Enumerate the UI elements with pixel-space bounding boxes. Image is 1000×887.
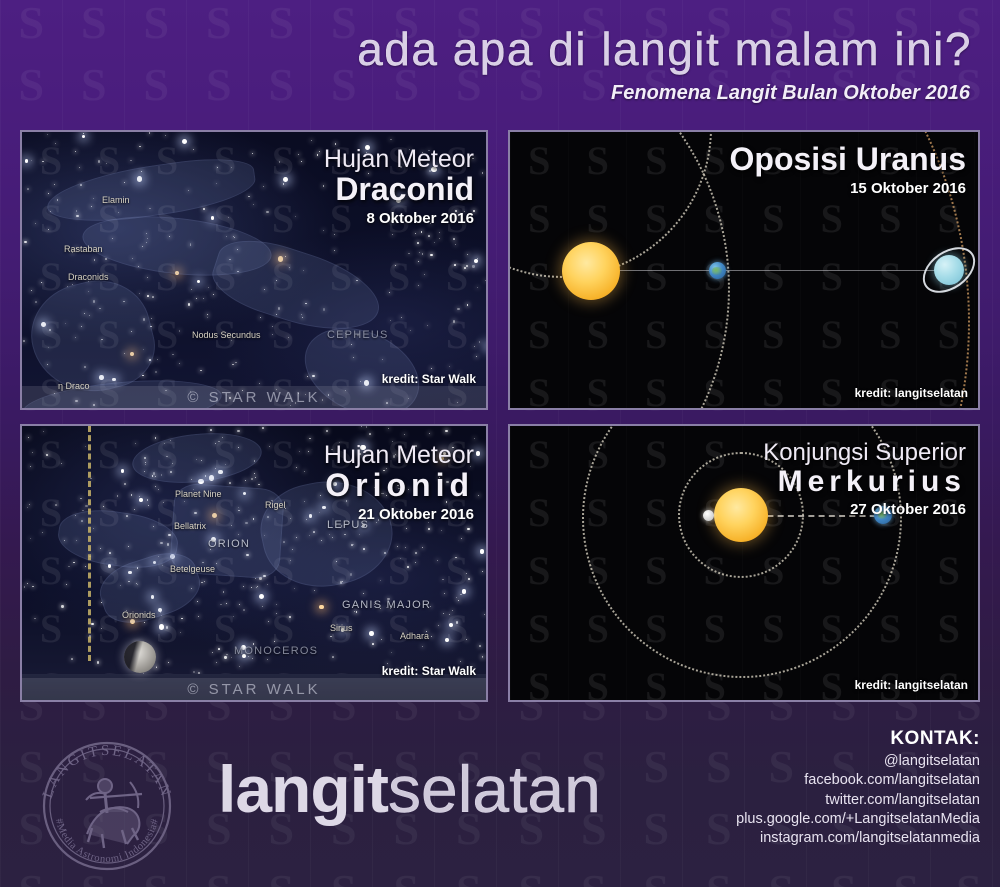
star <box>391 652 392 653</box>
alignment-sightline <box>606 270 946 271</box>
star <box>73 562 75 564</box>
star <box>41 282 42 283</box>
star <box>180 632 181 633</box>
star <box>388 428 389 429</box>
star <box>79 167 80 168</box>
panel-draconid[interactable]: SSSSSSSSSSSSSSSSSSSSSSSSSSSSSSSSSSSSSSSS… <box>20 130 488 410</box>
star <box>144 622 145 623</box>
star <box>158 489 159 490</box>
panel-date: 15 Oktober 2016 <box>730 180 967 197</box>
star <box>441 530 442 531</box>
star <box>27 507 29 509</box>
star <box>216 662 217 663</box>
star <box>467 528 469 530</box>
star <box>406 528 408 530</box>
star <box>163 502 164 503</box>
star <box>363 593 364 594</box>
bright-star <box>449 623 453 627</box>
watermark-text: © STAR WALK <box>187 681 320 698</box>
star <box>455 557 457 559</box>
star <box>466 265 468 267</box>
star <box>237 430 239 432</box>
poster-root: SSSSSSSSSSSSSSSSSSSSSSSSSSSSSSSSSSSSSSSS… <box>0 0 1000 887</box>
wordmark-bold: langit <box>218 752 388 826</box>
star <box>421 231 423 233</box>
star <box>479 645 481 647</box>
star <box>193 671 195 673</box>
star <box>139 496 140 497</box>
star <box>266 211 268 213</box>
star <box>456 621 458 623</box>
star <box>439 238 440 239</box>
bright-star <box>211 216 215 220</box>
star <box>245 480 246 481</box>
star <box>482 657 483 658</box>
bright-star <box>474 259 478 263</box>
star-label: Sirius <box>330 623 353 633</box>
star <box>165 135 166 136</box>
star <box>452 610 453 611</box>
star <box>460 594 462 596</box>
star <box>203 298 204 299</box>
star <box>204 581 205 582</box>
star <box>295 216 296 217</box>
star <box>256 587 257 588</box>
star <box>430 254 432 256</box>
panel-konjungsi-merkurius[interactable]: SSSSSSSSSSSSSSSSSSSSSSSSSSSSSSSSSSSSSSSS… <box>508 424 980 702</box>
star <box>179 330 181 332</box>
star <box>466 639 467 640</box>
star <box>198 616 199 617</box>
star <box>147 499 149 501</box>
panel-credit: kredit: langitselatan <box>855 386 968 400</box>
star <box>220 604 222 606</box>
star <box>135 443 136 444</box>
bright-star <box>462 589 467 594</box>
star <box>389 292 390 293</box>
star <box>31 160 33 162</box>
star <box>296 467 297 468</box>
star <box>34 618 36 620</box>
star <box>308 451 309 452</box>
panel-heading-draconid: Hujan Meteor Draconid 8 Oktober 2016 <box>324 146 474 227</box>
star <box>27 583 28 584</box>
star <box>83 133 84 134</box>
star <box>314 590 315 591</box>
star <box>210 429 212 431</box>
star <box>429 433 431 435</box>
star <box>258 484 260 486</box>
star <box>304 471 306 473</box>
star <box>130 160 132 162</box>
star <box>103 506 104 507</box>
star <box>30 538 32 540</box>
star <box>410 330 411 331</box>
star <box>66 584 67 585</box>
star <box>197 601 198 602</box>
contact-line[interactable]: twitter.com/langitselatan <box>736 791 980 810</box>
star <box>254 473 255 474</box>
star-label: Orionids <box>122 610 156 620</box>
star <box>193 149 194 150</box>
page-subtitle: Fenomena Langit Bulan Oktober 2016 <box>611 82 970 105</box>
star <box>42 532 43 533</box>
header: ada apa di langit malam ini? Fenomena La… <box>0 0 1000 120</box>
star <box>449 366 450 367</box>
star <box>397 546 398 547</box>
langitselatan-seal-logo: LANGITSELATAN #Media Astronomi Indonesia… <box>26 730 188 878</box>
star <box>479 341 481 343</box>
star-label: Rigel <box>265 500 286 510</box>
star <box>29 504 31 506</box>
star <box>24 241 26 243</box>
star-label: ORION <box>208 538 250 550</box>
star <box>48 193 49 194</box>
star <box>443 613 444 614</box>
star <box>149 132 151 134</box>
star <box>147 277 148 278</box>
star <box>179 363 181 365</box>
star <box>46 454 48 456</box>
star <box>208 287 209 288</box>
star <box>35 301 37 303</box>
panel-date: 21 Oktober 2016 <box>324 506 474 523</box>
star <box>23 340 25 342</box>
star <box>71 658 73 660</box>
star <box>267 659 268 660</box>
star <box>298 154 299 155</box>
star <box>98 160 100 162</box>
star <box>408 253 410 255</box>
star <box>243 609 245 611</box>
star <box>444 593 445 594</box>
starwalk-watermark: © STAR WALK <box>22 386 486 408</box>
bright-star <box>369 631 374 636</box>
star <box>311 140 312 141</box>
panel-date: 27 Oktober 2016 <box>763 501 966 518</box>
page-title: ada apa di langit malam ini? <box>357 22 972 76</box>
star <box>85 446 87 448</box>
star <box>226 654 228 656</box>
star <box>32 452 33 453</box>
star <box>243 586 244 587</box>
star <box>94 259 96 261</box>
star <box>255 578 256 579</box>
star <box>431 636 432 637</box>
star <box>478 495 480 497</box>
star <box>361 426 362 427</box>
star <box>239 604 240 605</box>
star <box>97 661 99 663</box>
star <box>43 431 44 432</box>
star <box>474 438 475 439</box>
star <box>437 560 438 561</box>
star <box>418 261 419 262</box>
star <box>91 623 93 625</box>
panel-orionid[interactable]: SSSSSSSSSSSSSSSSSSSSSSSSSSSSSSSSSSSSSSSS… <box>20 424 488 702</box>
star <box>259 383 260 384</box>
star-label: CEPHEUS <box>327 329 389 341</box>
star <box>188 303 190 305</box>
star <box>407 566 409 568</box>
star <box>449 614 450 615</box>
panel-kicker: Konjungsi Superior <box>763 440 966 465</box>
star <box>453 320 455 322</box>
star <box>148 505 149 506</box>
star <box>484 614 485 615</box>
star <box>294 588 295 589</box>
star <box>239 666 240 667</box>
star <box>224 656 226 658</box>
footer: LANGITSELATAN #Media Astronomi Indonesia… <box>0 712 1000 887</box>
panel-name: Draconid <box>324 173 474 207</box>
star <box>117 495 119 497</box>
star <box>166 626 168 628</box>
star <box>253 204 254 205</box>
panel-name: Orionid <box>324 469 474 503</box>
star <box>405 547 406 548</box>
contact-line[interactable]: plus.google.com/+LangitselatanMedia <box>736 810 980 829</box>
star <box>172 354 174 356</box>
wordmark-light: selatan <box>388 752 601 826</box>
star <box>455 244 456 245</box>
star <box>424 274 425 275</box>
star <box>68 566 70 568</box>
star <box>317 154 319 156</box>
panel-oposisi-uranus[interactable]: SSSSSSSSSSSSSSSSSSSSSSSSSSSSSSSSSSSSSSSS… <box>508 130 980 410</box>
star <box>457 308 459 310</box>
star <box>289 616 291 618</box>
star <box>228 217 229 218</box>
star <box>139 293 141 295</box>
star <box>334 250 335 251</box>
star <box>207 317 208 318</box>
star <box>75 151 76 152</box>
star <box>309 438 311 440</box>
star <box>269 446 270 447</box>
star <box>27 188 29 190</box>
star <box>415 233 416 234</box>
star <box>203 208 205 210</box>
star <box>466 573 467 574</box>
star <box>226 603 227 604</box>
bright-star <box>159 624 165 630</box>
star <box>134 509 135 510</box>
star-label: Planet Nine <box>175 489 222 499</box>
ecliptic-line <box>88 426 91 661</box>
star <box>212 652 213 653</box>
star <box>61 463 62 464</box>
bright-star <box>283 177 288 182</box>
bright-star <box>121 469 125 473</box>
star <box>200 370 202 372</box>
star <box>460 661 461 662</box>
star <box>404 434 405 435</box>
star <box>28 437 29 438</box>
panel-name: Oposisi Uranus <box>730 143 967 177</box>
star <box>288 337 289 338</box>
bright-star <box>25 159 29 163</box>
star <box>80 498 82 500</box>
star <box>255 477 256 478</box>
contact-lines: @langitselatanfacebook.com/langitselatan… <box>736 752 980 848</box>
star <box>390 320 391 321</box>
star <box>401 317 402 318</box>
star <box>467 304 469 306</box>
star <box>155 486 156 487</box>
star <box>232 364 234 366</box>
star <box>319 151 320 152</box>
star <box>381 639 382 640</box>
star <box>139 146 141 148</box>
star <box>213 294 214 295</box>
star <box>276 613 278 615</box>
star <box>283 183 285 185</box>
star <box>428 235 430 237</box>
star <box>156 667 157 668</box>
star <box>323 230 324 231</box>
star <box>55 504 57 506</box>
panel-date: 8 Oktober 2016 <box>324 210 474 227</box>
star <box>223 591 225 593</box>
star <box>330 636 332 638</box>
sun-body <box>714 488 768 542</box>
panel-heading-orionid: Hujan Meteor Orionid 21 Oktober 2016 <box>324 442 474 523</box>
star <box>477 287 479 289</box>
star <box>31 290 32 291</box>
star <box>252 658 253 659</box>
panel-credit: kredit: Star Walk <box>382 372 476 386</box>
star-label: Rastaban <box>64 244 103 254</box>
star <box>42 161 44 163</box>
star-label: Adhara <box>400 631 429 641</box>
star <box>151 318 152 319</box>
star <box>458 600 459 601</box>
star-label: Betelgeuse <box>170 564 215 574</box>
star-label: Bellatrix <box>174 521 206 531</box>
star <box>274 641 275 642</box>
star <box>400 558 401 559</box>
star <box>276 604 277 605</box>
star <box>54 184 55 185</box>
star <box>101 628 102 629</box>
bright-star <box>480 549 485 554</box>
star <box>181 618 183 620</box>
star <box>272 326 273 327</box>
star <box>55 143 57 145</box>
star <box>445 430 447 432</box>
star <box>251 587 252 588</box>
sagittarius-archer-icon <box>86 779 142 848</box>
panel-kicker: Hujan Meteor <box>324 146 474 172</box>
star <box>233 616 234 617</box>
star <box>32 586 34 588</box>
star <box>476 356 477 357</box>
star <box>372 643 374 645</box>
star <box>30 466 32 468</box>
star <box>155 437 157 439</box>
star <box>231 657 232 658</box>
star <box>417 242 419 244</box>
star <box>422 646 423 647</box>
star <box>390 139 392 141</box>
star <box>131 494 133 496</box>
star <box>301 161 302 162</box>
panel-heading-merkurius: Konjungsi Superior Merkurius 27 Oktober … <box>763 440 966 518</box>
bright-star <box>139 498 143 502</box>
star <box>461 538 462 539</box>
star <box>191 289 192 290</box>
star <box>472 265 474 267</box>
star <box>332 656 334 658</box>
star <box>251 478 253 480</box>
star <box>418 285 419 286</box>
star <box>442 579 444 581</box>
star-label: Elamin <box>102 195 130 205</box>
star <box>415 562 416 563</box>
star <box>468 578 470 580</box>
star <box>380 580 381 581</box>
star <box>229 482 231 484</box>
star <box>263 186 264 187</box>
bright-star <box>476 451 480 455</box>
contact-line[interactable]: @langitselatan <box>736 752 980 771</box>
star <box>252 153 253 154</box>
star <box>454 264 456 266</box>
star <box>147 295 149 297</box>
star <box>434 242 435 243</box>
star <box>482 172 484 174</box>
star <box>326 430 328 432</box>
star <box>48 229 49 230</box>
panel-name: Merkurius <box>763 466 966 498</box>
star <box>47 134 48 135</box>
star <box>35 223 36 224</box>
earth-body <box>709 262 726 279</box>
warm-star <box>319 605 323 609</box>
star <box>419 252 420 253</box>
star <box>124 483 126 485</box>
star-label: MONOCEROS <box>234 645 318 657</box>
star <box>262 427 264 429</box>
star <box>431 368 432 369</box>
star <box>260 317 261 318</box>
bright-star <box>82 135 86 139</box>
star <box>456 597 458 599</box>
star <box>422 253 424 255</box>
star <box>438 625 439 626</box>
star <box>485 280 486 281</box>
star <box>157 359 158 360</box>
star <box>453 238 455 240</box>
langitselatan-wordmark: langitselatan <box>218 756 601 822</box>
star <box>427 325 428 326</box>
star <box>268 621 269 622</box>
star <box>201 582 203 584</box>
panel-credit: kredit: Star Walk <box>382 664 476 678</box>
star <box>464 267 466 269</box>
contact-line[interactable]: facebook.com/langitselatan <box>736 771 980 790</box>
star <box>24 586 26 588</box>
bright-star <box>197 280 201 284</box>
star <box>267 584 268 585</box>
moon-body <box>124 641 156 673</box>
star <box>106 163 107 164</box>
contact-line[interactable]: instagram.com/langitselatanmedia <box>736 829 980 848</box>
star <box>85 566 86 567</box>
star <box>428 528 430 530</box>
star <box>366 426 368 428</box>
